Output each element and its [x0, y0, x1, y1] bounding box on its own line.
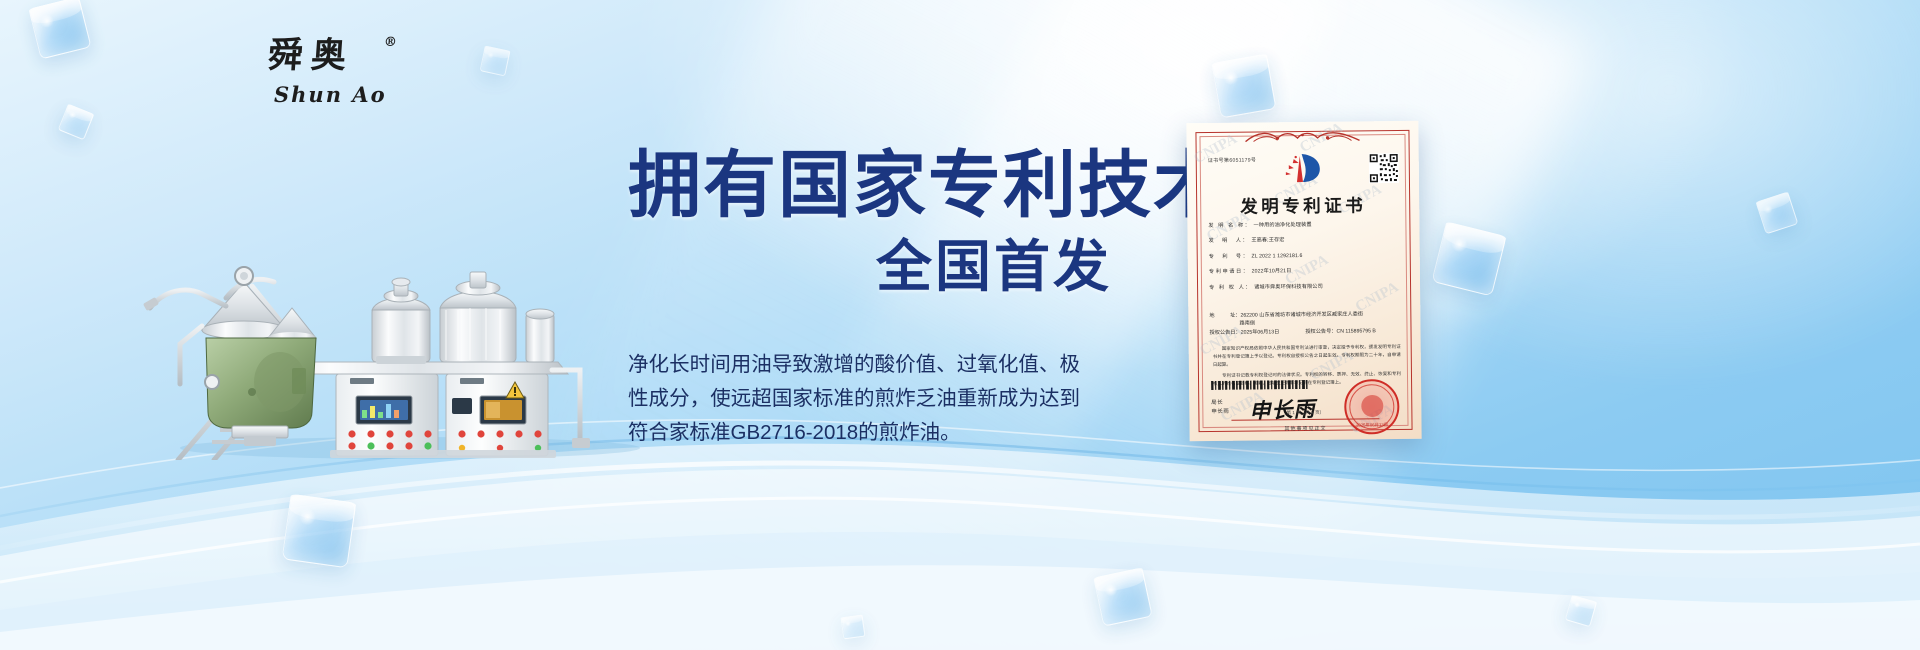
brand-name-cn-text: 舜奥: [267, 35, 356, 76]
ice-cube-3: [480, 46, 511, 77]
certificate-paragraph-1: 国家知识产权局依照中华人民共和国专利法进行审查，决定授予专利权，颁发发明专利证书…: [1213, 343, 1401, 369]
brand-name-cn: 舜奥®: [267, 38, 399, 73]
headline-block: 拥有国家专利技术 全国首发 净化长时间用油导致激增的酸价值、过氧化值、极性成分，…: [628, 148, 1148, 450]
certificate-field-key: 发 明 人：: [1209, 237, 1250, 244]
ice-cube-5: [1431, 221, 1506, 296]
certificate-title: 发明专利证书: [1187, 192, 1419, 219]
certificate-field-row: 专 利 权 人：诸城市舜奥环保科技有限公司: [1209, 282, 1402, 291]
ice-cube-6: [1756, 192, 1799, 235]
brand-name-en: Shun Ao: [274, 82, 398, 107]
headline-secondary: 全国首发: [628, 238, 1148, 296]
certificate-field-value: 2022年10月21日: [1252, 267, 1292, 274]
registered-trademark-icon: ®: [383, 36, 405, 49]
certificate-barcode: [1211, 380, 1309, 390]
certificate-field-row: 发 明 名 称：一种用的油净化处理装置: [1208, 220, 1401, 229]
certificate-field-key: 专 利 权 人：: [1209, 283, 1252, 290]
certificate-field-value: ZL 2022 1 1292181.6: [1251, 253, 1302, 260]
certificate-address-value: 262200 山东省潍坊市诸城市经济开发区臧家庄人委街: [1240, 311, 1363, 318]
certificate-footer-note: 其他事项见正文: [1190, 424, 1422, 433]
brand-logo: 舜奥® Shun Ao: [268, 38, 398, 110]
ice-cube-1: [28, 0, 91, 60]
certificate-field-value: 诸城市舜奥环保科技有限公司: [1254, 282, 1323, 290]
certificate-field-row: 专 利 号：ZL 2022 1 1292181.6: [1209, 251, 1402, 260]
certificate-field-key: 发 明 名 称：: [1208, 222, 1251, 229]
headline-primary: 拥有国家专利技术: [628, 148, 1148, 224]
certificate-address: 地 址：262200 山东省潍坊市诸城市经济开发区臧家庄人委街 路南侧: [1209, 310, 1402, 328]
ice-cube-10: [841, 615, 866, 640]
patent-certificate-image: CNIPACNIPACNIPACNIPACNIPACNIPACNIPACNIPA…: [1186, 121, 1421, 441]
certificate-qr-code: [1369, 153, 1399, 183]
certificate-field-key: 专 利 号：: [1209, 252, 1250, 259]
ice-cube-7: [282, 494, 357, 569]
certificate-field-list: 发 明 名 称：一种用的油净化处理装置发 明 人：王高春;王存宏专 利 号：ZL…: [1208, 220, 1402, 299]
ice-cube-2: [58, 104, 94, 140]
product-image-oil-purification-equipment: [140, 130, 660, 460]
certificate-field-row: 专利申请日：2022年10月21日: [1209, 266, 1402, 275]
ice-cube-8: [1093, 567, 1152, 626]
promo-banner: 舜奥® Shun Ao: [0, 0, 1920, 650]
certificate-number: 证书号第6051179号: [1208, 156, 1257, 164]
certificate-ornament-icon: [1243, 128, 1361, 145]
ice-cube-9: [1565, 595, 1597, 627]
certificate-grant-number: 授权公告号：CN 115895795 B: [1305, 327, 1376, 335]
certificate-field-key: 专利申请日：: [1209, 268, 1250, 275]
certificate-field-row: 发 明 人：王高春;王存宏: [1209, 235, 1402, 244]
ice-cube-4: [1212, 54, 1277, 119]
certificate-grant-date: 授权公告日：2025年06月13日: [1209, 328, 1279, 336]
certificate-address-label: 地 址：: [1209, 313, 1240, 319]
certificate-field-value: 一种用的油净化处理装置: [1253, 221, 1311, 229]
body-paragraph: 净化长时间用油导致激增的酸价值、过氧化值、极性成分，使远超国家标准的煎炸乏油重新…: [628, 348, 1080, 450]
cnipa-emblem-icon: [1280, 151, 1326, 185]
certificate-field-value: 王高春;王存宏: [1251, 237, 1284, 244]
